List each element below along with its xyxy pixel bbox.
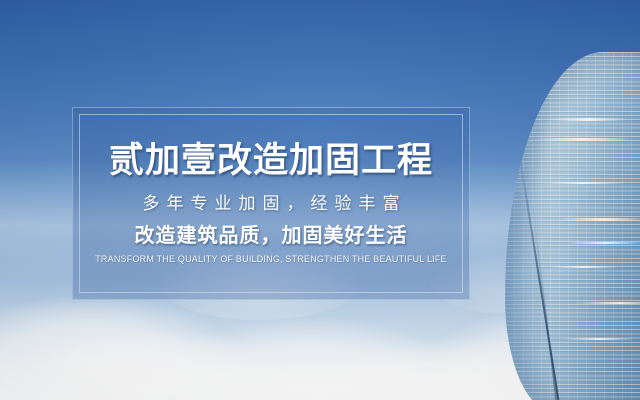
banner-title: 贰加壹改造加固工程 <box>109 143 433 178</box>
reflection-streak <box>565 242 640 244</box>
reflection-streak <box>557 218 640 221</box>
banner-subtitle: 多年专业加固，经验丰富 <box>136 195 407 212</box>
reflection-streak <box>549 266 619 268</box>
reflection-streak <box>549 118 627 121</box>
reflection-streak <box>541 182 627 184</box>
reflection-streak <box>575 302 640 304</box>
banner-slogan-english: TRANSFORM THE QUALITY OF BUILDING, STREN… <box>95 255 447 264</box>
promo-banner: 贰加壹改造加固工程 多年专业加固，经验丰富 改造建筑品质，加固美好生活 TRAN… <box>0 0 640 400</box>
headline-panel: 贰加壹改造加固工程 多年专业加固，经验丰富 改造建筑品质，加固美好生活 TRAN… <box>72 107 470 300</box>
headline-panel-content: 贰加壹改造加固工程 多年专业加固，经验丰富 改造建筑品质，加固美好生活 TRAN… <box>79 114 463 293</box>
building-atmospheric-fade <box>505 52 551 400</box>
reflection-streak <box>563 338 635 340</box>
skyscraper-building <box>505 52 640 400</box>
banner-slogan: 改造建筑品质，加固美好生活 <box>135 226 408 246</box>
